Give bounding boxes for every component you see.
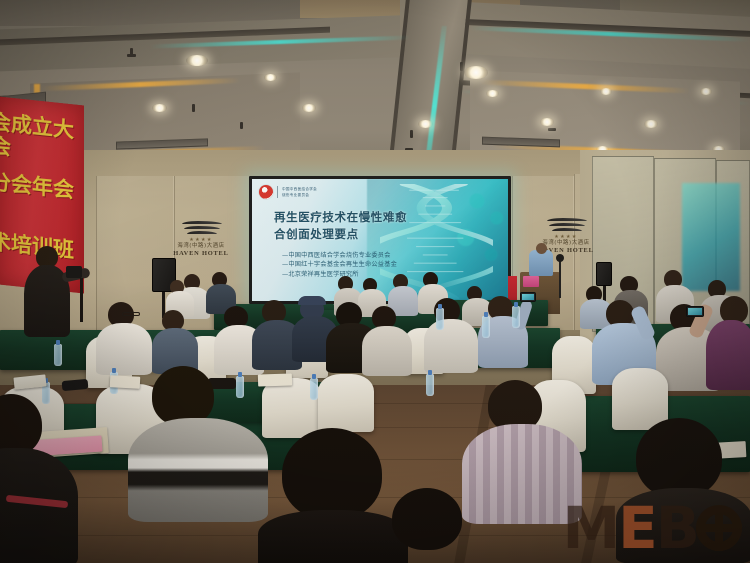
water-bottle — [310, 378, 318, 400]
eyeglasses-icon — [122, 312, 140, 316]
slide-logo-line2: 烧伤专业委员会 — [282, 193, 317, 197]
hotel-name-cn: 海湾(中路)大酒店 — [163, 243, 239, 250]
banner-row: 会成立大会 — [0, 110, 84, 168]
pa-loudspeaker — [596, 262, 612, 286]
slide-subtitle-line-1: —中国中西医结合学会烧伤专业委员会 — [282, 251, 442, 260]
ceiling-downlight — [700, 88, 712, 95]
ceiling-downlight — [418, 120, 433, 128]
banner-row-text: 会成立大会 — [0, 110, 84, 168]
water-bottle — [236, 376, 244, 398]
secondary-display — [682, 183, 740, 291]
water-bottle — [54, 344, 62, 366]
hotel-sign-left: ★★★★ 海湾(中路)大酒店 HAVEN HOTEL — [163, 219, 239, 258]
ceiling-downlight — [540, 118, 554, 126]
conference-photo: 会成立大会 分会年会 术培训班 ★★★★ 海湾(中路)大酒店 HAVEN HOT… — [0, 0, 750, 563]
lectern-sign — [523, 276, 539, 287]
slide-title-line-2: 合创面处理要点 — [274, 226, 444, 243]
banquet-chair — [612, 368, 668, 430]
handout-papers — [258, 373, 292, 386]
water-bottle — [512, 306, 520, 328]
ceiling-downlight — [264, 74, 277, 81]
microphone-stand — [559, 258, 561, 298]
slide-subtitle: —中国中西医结合学会烧伤专业委员会 —中国红十字会基金会再生生命公益基金 —北京… — [282, 251, 442, 279]
slide-logo-line1: 中国中西医结合学会 — [282, 187, 317, 191]
banquet-chair — [318, 374, 374, 432]
microphone-icon — [556, 254, 564, 262]
ceiling-downlight — [152, 104, 167, 112]
red-circular-emblem-icon — [259, 185, 273, 199]
slide-subtitle-line-2: —中国红十字会基金会再生生命公益基金 — [282, 260, 442, 269]
video-camera — [66, 266, 82, 278]
projection-screen: 中国中西医结合学会 烧伤专业委员会 再生医疗技术在慢性难愈 合创面处理要点 —中… — [249, 176, 511, 304]
tripod-leg — [80, 278, 83, 322]
hotel-name-en: HAVEN HOTEL — [163, 250, 239, 258]
ceiling-downlight — [644, 120, 658, 128]
ceiling-downlight — [302, 104, 316, 112]
water-bottle — [436, 308, 444, 330]
slide-title-line-1: 再生医疗技术在慢性难愈 — [274, 209, 444, 226]
banner-row-text: 分会年会 — [0, 170, 74, 203]
hotel-wave-logo-icon — [179, 219, 223, 236]
handout-papers — [110, 375, 141, 389]
ceiling-downlight — [486, 90, 499, 97]
water-bottle — [482, 316, 490, 338]
slide-org-logo: 中国中西医结合学会 烧伤专业委员会 — [259, 185, 317, 199]
slide-title: 再生医疗技术在慢性难愈 合创面处理要点 — [274, 209, 444, 243]
smartphone-recording — [686, 306, 704, 317]
banner-row: 分会年会 — [0, 170, 74, 203]
smartphone-recording — [520, 292, 536, 302]
ceiling-downlight — [600, 88, 612, 95]
hotel-wave-logo-icon — [544, 216, 588, 233]
ceiling-downlight — [186, 55, 208, 66]
ceiling-downlight — [464, 66, 488, 79]
baseball-cap-icon — [298, 296, 326, 305]
presenter-head — [536, 243, 547, 254]
slide-subtitle-line-3: —北京荣祥再生医学研究所 — [282, 270, 442, 279]
water-bottle — [426, 374, 434, 396]
